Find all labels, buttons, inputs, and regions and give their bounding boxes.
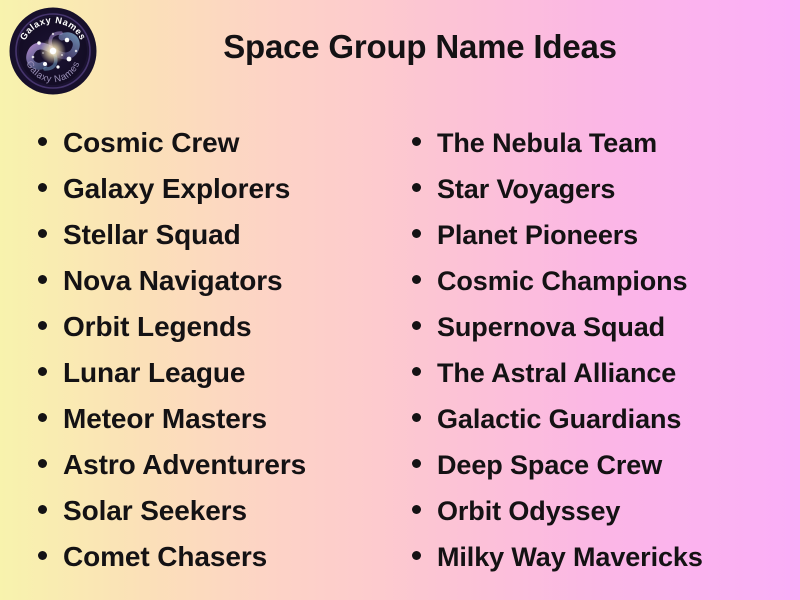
list-item-label: Astro Adventurers	[63, 442, 306, 488]
bullet-icon	[38, 413, 47, 422]
list-item-label: Orbit Legends	[63, 304, 252, 350]
list-item: Meteor Masters	[38, 396, 398, 442]
galaxy-names-logo: Galaxy Names Galaxy Names	[9, 7, 97, 95]
bullet-icon	[38, 183, 47, 192]
bullet-icon	[38, 321, 47, 330]
bullet-icon	[412, 229, 421, 238]
list-item: Orbit Legends	[38, 304, 398, 350]
list-item-label: Star Voyagers	[437, 166, 615, 212]
list-item-label: Cosmic Champions	[437, 258, 687, 304]
list-item: Comet Chasers	[38, 534, 398, 580]
list-item: Star Voyagers	[412, 166, 792, 212]
list-item: Planet Pioneers	[412, 212, 792, 258]
list-item-label: Lunar League	[63, 350, 245, 396]
list-item: Stellar Squad	[38, 212, 398, 258]
list-item: The Nebula Team	[412, 120, 792, 166]
page-title: Space Group Name Ideas	[108, 28, 732, 66]
bullet-icon	[38, 275, 47, 284]
list-item-label: Planet Pioneers	[437, 212, 638, 258]
list-item: Lunar League	[38, 350, 398, 396]
poster-canvas: Galaxy Names Galaxy Names Space Group Na…	[0, 0, 800, 600]
bullet-icon	[412, 551, 421, 560]
list-item-label: Supernova Squad	[437, 304, 665, 350]
list-item: Cosmic Champions	[412, 258, 792, 304]
bullet-icon	[38, 137, 47, 146]
bullet-icon	[38, 229, 47, 238]
bullet-icon	[412, 367, 421, 376]
list-item-label: The Nebula Team	[437, 120, 657, 166]
list-item-label: Deep Space Crew	[437, 442, 662, 488]
list-item: Nova Navigators	[38, 258, 398, 304]
list-item-label: Stellar Squad	[63, 212, 241, 258]
list-item-label: Milky Way Mavericks	[437, 534, 703, 580]
bullet-icon	[412, 505, 421, 514]
list-item-label: Comet Chasers	[63, 534, 267, 580]
list-item-label: Cosmic Crew	[63, 120, 239, 166]
list-item: Solar Seekers	[38, 488, 398, 534]
bullet-icon	[412, 459, 421, 468]
bullet-icon	[412, 321, 421, 330]
bullet-icon	[412, 137, 421, 146]
list-item: Milky Way Mavericks	[412, 534, 792, 580]
list-item-label: Galaxy Explorers	[63, 166, 290, 212]
list-item-label: Nova Navigators	[63, 258, 282, 304]
list-item-label: Meteor Masters	[63, 396, 267, 442]
bullet-icon	[412, 413, 421, 422]
bullet-icon	[38, 367, 47, 376]
list-item: Orbit Odyssey	[412, 488, 792, 534]
list-item-label: Solar Seekers	[63, 488, 247, 534]
bullet-icon	[38, 505, 47, 514]
list-item: Deep Space Crew	[412, 442, 792, 488]
list-item: Galaxy Explorers	[38, 166, 398, 212]
list-item-label: Orbit Odyssey	[437, 488, 620, 534]
bullet-icon	[412, 275, 421, 284]
list-item: Astro Adventurers	[38, 442, 398, 488]
bullet-icon	[38, 459, 47, 468]
list-item-label: Galactic Guardians	[437, 396, 681, 442]
bullet-icon	[38, 551, 47, 560]
list-item-label: The Astral Alliance	[437, 350, 676, 396]
right-name-column: The Nebula Team Star Voyagers Planet Pio…	[412, 120, 792, 580]
bullet-icon	[412, 183, 421, 192]
list-item: Supernova Squad	[412, 304, 792, 350]
left-name-column: Cosmic Crew Galaxy Explorers Stellar Squ…	[38, 120, 398, 580]
list-item: Galactic Guardians	[412, 396, 792, 442]
list-item: Cosmic Crew	[38, 120, 398, 166]
list-item: The Astral Alliance	[412, 350, 792, 396]
